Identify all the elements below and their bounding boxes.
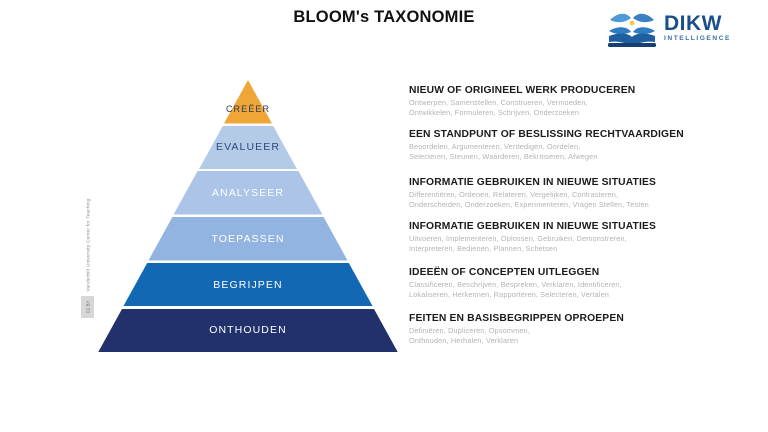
pyramid-level-label: EVALUEER [216,141,280,153]
dikw-logo-text: DIKW INTELLIGENCE [664,13,731,43]
description-block-6: FEITEN EN BASISBEGRIPPEN OPROEPENDefinië… [409,313,759,347]
description-heading: IDEEËN OF CONCEPTEN UITLEGGEN [409,267,759,278]
description-verbs-line-2: Interpreteren, Bedienen, Plannen, Schets… [409,244,759,254]
pyramid-level-label: ANALYSEER [212,187,284,199]
description-verbs-line-2: Selecteren, Steunen, Waarderen, Bekritis… [409,152,759,162]
dikw-book-waves-logo-icon [606,6,658,50]
description-verbs-line-2: Onderscheiden, Onderzoeken, Experimenter… [409,200,759,210]
description-heading: INFORMATIE GEBRUIKEN IN NIEUWE SITUATIES [409,221,759,232]
description-verbs-line-1: Differentiëren, Ordenen, Relateren, Verg… [409,190,759,200]
logo-wordmark: DIKW [664,13,731,34]
dikw-logo: DIKW INTELLIGENCE [606,4,756,52]
pyramid-level-6[interactable]: ONTHOUDEN [98,309,398,353]
pyramid-level-2[interactable]: EVALUEER [98,126,398,170]
pyramid-level-label: TOEPASSEN [211,233,284,245]
description-verbs-line-2: Ontwikkelen, Formuleren, Schrijven, Onde… [409,108,759,118]
pyramid-level-5[interactable]: BEGRIJPEN [98,263,398,307]
description-block-3: INFORMATIE GEBRUIKEN IN NIEUWE SITUATIES… [409,177,759,211]
pyramid-level-shape [98,80,398,124]
description-verbs-line-1: Beoordelen, Argumenteren, Verdedigen, Oo… [409,142,759,152]
pyramid-level-label: ONTHOUDEN [209,324,287,336]
creative-commons-badge: CC BY [81,296,94,318]
description-heading: EEN STANDPUNT OF BESLISSING RECHTVAARDIG… [409,129,759,140]
bloom-taxonomy-pyramid: CREËEREVALUEERANALYSEERTOEPASSENBEGRIJPE… [98,80,398,352]
attribution-credit: Vanderbilt University Center for Teachin… [80,180,96,310]
description-verbs-line-2: Onthouden, Herhalen, Verklaren [409,336,759,346]
description-verbs-line-1: Definiëren, Dupliceren, Opsommen, [409,326,759,336]
description-heading: NIEUW OF ORIGINEEL WERK PRODUCEREN [409,85,759,96]
description-block-1: NIEUW OF ORIGINEEL WERK PRODUCERENOntwer… [409,85,759,119]
attribution-badge-label: CC BY [85,301,90,314]
logo-subtitle: INTELLIGENCE [664,36,731,43]
description-verbs-line-1: Classificeren, Beschrijven, Bespreken, V… [409,280,759,290]
description-verbs-line-2: Lokaliseren, Herkennen, Rapporteren, Sel… [409,290,759,300]
pyramid-level-3[interactable]: ANALYSEER [98,171,398,215]
description-heading: FEITEN EN BASISBEGRIPPEN OPROEPEN [409,313,759,324]
pyramid-level-1[interactable]: CREËER [98,80,398,124]
attribution-label: Vanderbilt University Center for Teachin… [86,199,91,292]
description-block-5: IDEEËN OF CONCEPTEN UITLEGGENClassificer… [409,267,759,301]
pyramid-level-label: CREËER [226,104,270,114]
description-verbs-line-1: Ontwerpen, Samenstellen, Construeren, Ve… [409,98,759,108]
description-block-2: EEN STANDPUNT OF BESLISSING RECHTVAARDIG… [409,129,759,163]
description-verbs-line-1: Uitvoeren, Implementeren, Oplossen, Gebr… [409,234,759,244]
description-block-4: INFORMATIE GEBRUIKEN IN NIEUWE SITUATIES… [409,221,759,255]
description-heading: INFORMATIE GEBRUIKEN IN NIEUWE SITUATIES [409,177,759,188]
pyramid-level-label: BEGRIJPEN [213,279,282,291]
pyramid-level-4[interactable]: TOEPASSEN [98,217,398,261]
